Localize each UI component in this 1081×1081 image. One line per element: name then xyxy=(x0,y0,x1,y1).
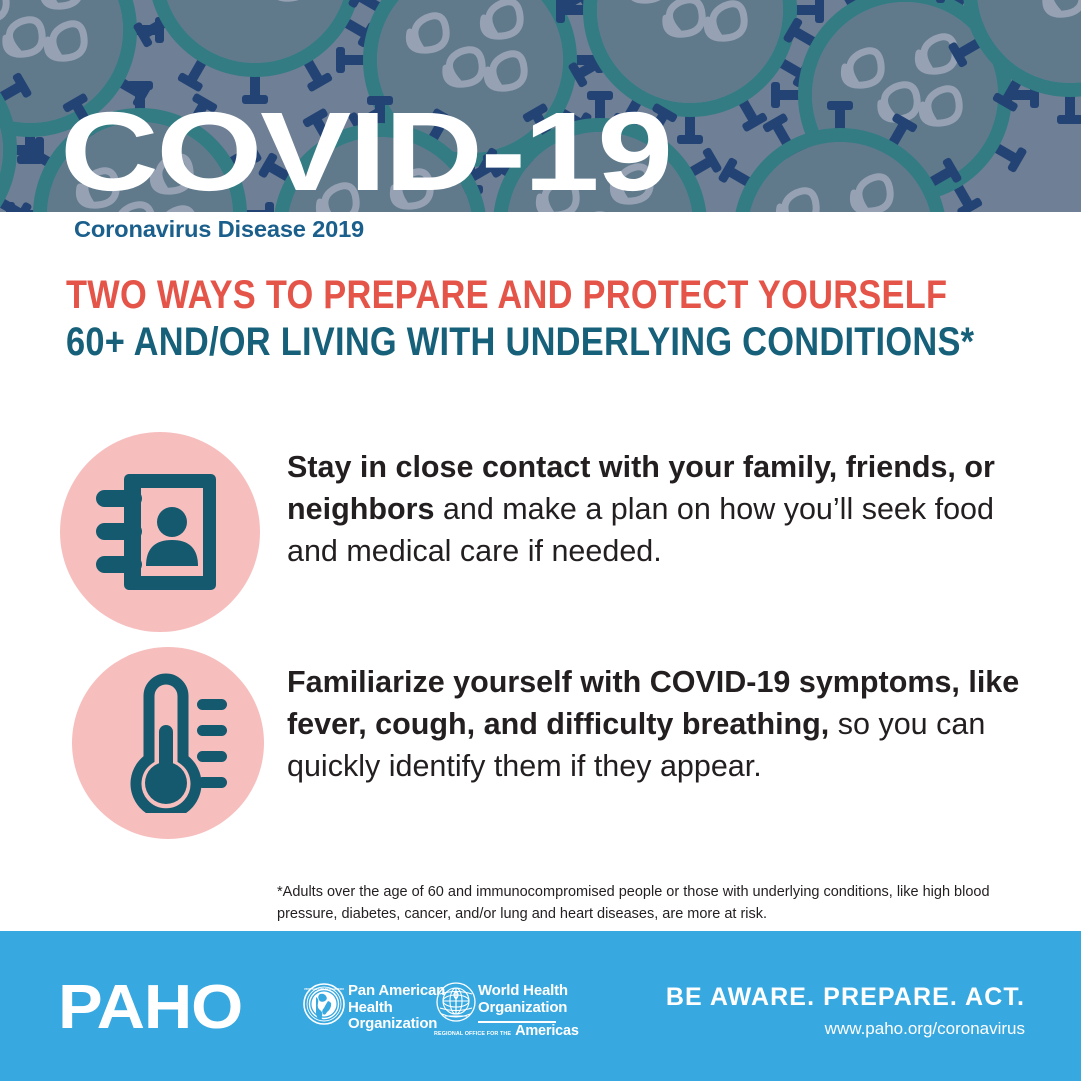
who-lockup-text: World Health Organization xyxy=(478,983,568,1016)
footer-url[interactable]: www.paho.org/coronavirus xyxy=(825,1019,1025,1039)
address-book-icon xyxy=(96,470,224,594)
headline-block: TWO WAYS TO PREPARE AND PROTECT YOURSELF… xyxy=(66,272,1046,366)
footer-tagline: BE AWARE. PREPARE. ACT. xyxy=(666,984,1025,1011)
paho-lockup-line1: Pan American xyxy=(348,983,445,1000)
paho-lockup-line3: Organization xyxy=(348,1016,445,1033)
who-region-small: REGIONAL OFFICE FOR THE xyxy=(434,1031,511,1040)
paho-globe-emblem: PRO SALUTE NOVI MUNDI xyxy=(303,983,345,1030)
header-banner: COVID-19 xyxy=(0,0,1081,212)
headline-primary: TWO WAYS TO PREPARE AND PROTECT YOURSELF xyxy=(66,272,909,319)
tip-item: Stay in close contact with your family, … xyxy=(60,432,1027,632)
paho-lockup-line2: Health xyxy=(348,1000,445,1017)
svg-text:PRO SALUTE NOVI MUNDI: PRO SALUTE NOVI MUNDI xyxy=(304,987,344,991)
tip-text: Stay in close contact with your family, … xyxy=(287,432,1027,572)
poster-canvas: COVID-19 Coronavirus Disease 2019 TWO WA… xyxy=(0,0,1081,1081)
paho-lockup-text: Pan American Health Organization xyxy=(348,983,445,1033)
thermometer-icon xyxy=(105,673,231,813)
icon-circle xyxy=(60,432,260,632)
who-lockup-line2: Organization xyxy=(478,1000,568,1017)
who-emblem xyxy=(436,982,476,1027)
tip-item: Familiarize yourself with COVID-19 sympt… xyxy=(72,647,1047,839)
who-region-lockup: REGIONAL OFFICE FOR THE Americas xyxy=(434,1024,579,1039)
who-lockup-line1: World Health xyxy=(478,983,568,1000)
paho-wordmark: PAHO xyxy=(58,977,242,1039)
who-region-big: Americas xyxy=(515,1024,579,1039)
page-subtitle: Coronavirus Disease 2019 xyxy=(74,216,364,242)
icon-circle xyxy=(72,647,264,839)
footnote: *Adults over the age of 60 and immunocom… xyxy=(277,881,997,925)
page-title: COVID-19 xyxy=(60,96,671,208)
tip-text: Familiarize yourself with COVID-19 sympt… xyxy=(287,647,1047,787)
headline-secondary: 60+ AND/OR LIVING WITH UNDERLYING CONDIT… xyxy=(66,319,909,366)
